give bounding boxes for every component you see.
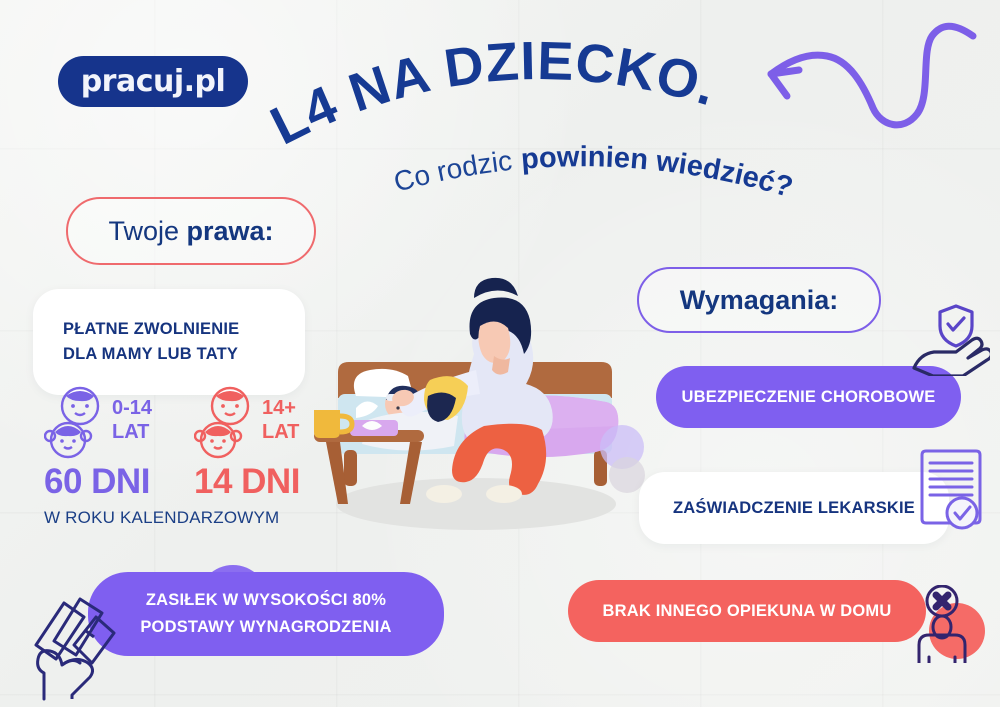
stat-age-0-14: 0-14	[112, 396, 184, 420]
two-children-faces-icon	[194, 384, 260, 462]
infographic-page: pracuj.pl L4 NA DZIECKO. Co rodzic powin…	[0, 0, 1000, 707]
stat-group-0-14: 0-14 LAT 60 DNI	[44, 382, 184, 492]
benefit-line1: ZASIŁEK W WYSOKOŚCI 80%	[146, 587, 386, 614]
stat-days-0-14: 60 DNI	[44, 462, 194, 502]
hand-holding-shield-check-icon	[912, 302, 990, 376]
hand-holding-money-icon	[24, 583, 122, 701]
requirement-label-1: ZAŚWIADCZENIE LEKARSKIE	[673, 499, 915, 518]
requirement-item-medical-certificate[interactable]: ZAŚWIADCZENIE LEKARSKIE	[639, 472, 949, 544]
page-title: L4 NA DZIECKO. Co rodzic powinien wiedzi…	[265, 28, 785, 218]
document-with-seal-icon	[918, 447, 994, 533]
curved-arrow-icon	[745, 8, 980, 140]
requirement-label-0: UBEZPIECZENIE CHOROBOWE	[682, 388, 936, 407]
your-rights-bold: prawa:	[187, 216, 274, 246]
requirement-label-2: BRAK INNEGO OPIEKUNA W DOMU	[603, 602, 892, 621]
title-arc-svg: L4 NA DZIECKO. Co rodzic powinien wiedzi…	[265, 28, 785, 218]
subtitle-bold-text: powinien wiedzieć?	[520, 141, 796, 204]
benefit-pill-80-percent[interactable]: ZASIŁEK W WYSOKOŚCI 80% PODSTAWY WYNAGRO…	[88, 572, 444, 656]
two-children-faces-icon	[44, 384, 110, 462]
person-with-x-icon	[905, 585, 979, 663]
stat-unit-0-14: LAT	[112, 420, 184, 444]
section-label-your-rights: Twoje prawa:	[66, 197, 316, 265]
subtitle-light-text: Co rodzic	[390, 145, 513, 198]
your-rights-light: Twoje	[108, 216, 179, 246]
stat-age-wrap-0-14: 0-14 LAT	[112, 396, 184, 444]
card-paid-leave: PŁATNE ZWOLNIENIE DLA MAMY LUB TATY	[33, 289, 305, 395]
decorative-blob	[609, 457, 645, 493]
section-label-requirements: Wymagania:	[637, 267, 881, 333]
logo-text: pracuj.pl	[81, 64, 226, 99]
benefit-line2: PODSTAWY WYNAGRODZENIA	[140, 614, 391, 641]
illustration-mother-and-sick-child	[298, 268, 643, 540]
your-rights-text: Twoje prawa:	[108, 216, 273, 247]
paid-leave-line1: PŁATNE ZWOLNIENIE	[63, 317, 305, 342]
pracuj-logo[interactable]: pracuj.pl	[58, 56, 248, 107]
paid-leave-line2: DLA MAMY LUB TATY	[63, 342, 305, 367]
title-text: L4 NA DZIECKO.	[261, 31, 723, 157]
requirement-item-no-other-caregiver[interactable]: BRAK INNEGO OPIEKUNA W DOMU	[568, 580, 926, 642]
requirements-text: Wymagania:	[680, 285, 839, 316]
